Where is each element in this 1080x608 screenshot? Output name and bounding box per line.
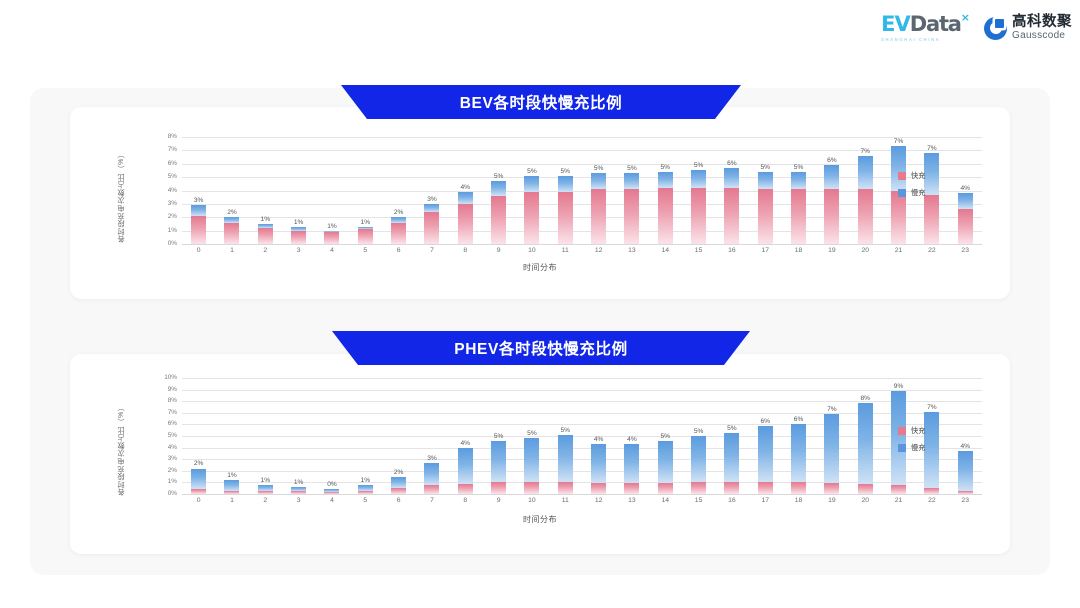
bar-segment-fast-charge[interactable] (558, 192, 573, 244)
bar-segment-fast-charge[interactable] (624, 483, 639, 494)
x-axis-tick-label: 2 (249, 247, 282, 254)
bar-value-label: 4% (960, 443, 970, 450)
x-axis-tick-label: 1 (215, 497, 248, 504)
bar-slot[interactable]: 5% (649, 378, 682, 494)
y-axis-tick-label: 8% (168, 134, 177, 140)
stacked-bar[interactable]: 5% (658, 172, 673, 244)
stacked-bar[interactable]: 3% (424, 463, 439, 494)
bar-slot[interactable]: 5% (582, 137, 615, 244)
bar-segment-slow-charge[interactable] (691, 170, 706, 187)
bar-segment-fast-charge[interactable] (958, 491, 973, 494)
bar-value-label: 1% (261, 477, 271, 484)
x-axis-tick-label: 23 (949, 247, 982, 254)
bar-value-label: 1% (327, 223, 337, 230)
stacked-bar[interactable]: 5% (558, 435, 573, 494)
bar-slot[interactable]: 3% (415, 137, 448, 244)
bar-slot[interactable]: 4% (615, 378, 648, 494)
bar-segment-fast-charge[interactable] (191, 216, 206, 244)
x-axis-title: 时间分布 (70, 262, 1010, 273)
legend-item[interactable]: 快充 (898, 426, 925, 436)
bar-slot[interactable]: 3% (415, 378, 448, 494)
bar-segment-slow-charge[interactable] (791, 424, 806, 482)
bar-segment-fast-charge[interactable] (691, 482, 706, 494)
bar-segment-slow-charge[interactable] (924, 412, 939, 489)
bar-segment-slow-charge[interactable] (824, 414, 839, 483)
bar-segment-fast-charge[interactable] (591, 189, 606, 244)
chart-phev: 各时段充电次数占比（%）10%9%8%7%6%5%4%3%2%1%0%2%1%1… (70, 354, 1010, 554)
x-axis-tick-label: 5 (349, 247, 382, 254)
bar-segment-fast-charge[interactable] (658, 188, 673, 244)
stacked-bar[interactable]: 0% (324, 489, 339, 494)
bar-slot[interactable]: 2% (215, 137, 248, 244)
stacked-bar[interactable]: 7% (924, 412, 939, 494)
bar-value-label: 5% (794, 164, 804, 171)
bar-slot[interactable]: 1% (282, 378, 315, 494)
stacked-bar[interactable]: 5% (558, 176, 573, 244)
bar-slot[interactable]: 1% (349, 378, 382, 494)
bar-value-label: 7% (860, 148, 870, 155)
bar-segment-slow-charge[interactable] (458, 192, 473, 204)
bar-segment-slow-charge[interactable] (491, 441, 506, 483)
stacked-bar[interactable]: 2% (391, 477, 406, 494)
stacked-bar[interactable]: 1% (258, 485, 273, 494)
bar-slot[interactable]: 1% (349, 137, 382, 244)
bar-value-label: 1% (294, 479, 304, 486)
bar-value-label: 7% (827, 406, 837, 413)
bar-slot[interactable]: 6% (782, 378, 815, 494)
bar-value-label: 1% (361, 219, 371, 226)
stacked-bar[interactable]: 1% (291, 227, 306, 244)
bar-value-label: 5% (760, 164, 770, 171)
stacked-bar[interactable]: 5% (658, 441, 673, 494)
stacked-bar[interactable]: 5% (791, 172, 806, 244)
y-axis-tick-label: 2% (168, 468, 177, 474)
evdata-logo: EV Data × SHANGHAI CHINA (881, 14, 970, 42)
bar-value-label: 1% (294, 219, 304, 226)
stacked-bar[interactable]: 5% (491, 181, 506, 244)
bar-value-label: 3% (427, 196, 437, 203)
bar-segment-fast-charge[interactable] (524, 192, 539, 244)
bar-segment-slow-charge[interactable] (524, 438, 539, 482)
y-axis-tick-label: 6% (168, 161, 177, 167)
bar-slot[interactable]: 1% (249, 137, 282, 244)
stacked-bar[interactable]: 1% (258, 224, 273, 244)
axis-baseline (182, 244, 982, 245)
stacked-bar[interactable]: 7% (824, 414, 839, 494)
bar-slot[interactable]: 6% (815, 137, 848, 244)
bar-segment-fast-charge[interactable] (291, 231, 306, 244)
x-axis-tick-label: 4 (315, 247, 348, 254)
bar-segment-slow-charge[interactable] (958, 451, 973, 491)
bar-value-label: 6% (760, 418, 770, 425)
bar-group: 3%2%1%1%1%1%2%3%4%5%5%5%5%5%5%5%6%5%5%6%… (182, 137, 982, 244)
evdata-logo-wordmark: EV Data × (881, 14, 970, 35)
bar-segment-fast-charge[interactable] (358, 229, 373, 244)
bar-value-label: 5% (561, 168, 571, 175)
stacked-bar[interactable]: 6% (758, 426, 773, 494)
x-axis-tick-label: 19 (815, 497, 848, 504)
bar-slot[interactable]: 8% (849, 378, 882, 494)
bar-segment-fast-charge[interactable] (758, 482, 773, 494)
bar-slot[interactable]: 7% (849, 137, 882, 244)
stacked-bar[interactable]: 5% (624, 173, 639, 244)
bar-segment-fast-charge[interactable] (524, 482, 539, 494)
bar-segment-fast-charge[interactable] (924, 195, 939, 244)
x-axis-tick-label: 9 (482, 497, 515, 504)
bar-segment-fast-charge[interactable] (191, 489, 206, 494)
bar-segment-fast-charge[interactable] (324, 232, 339, 244)
bar-segment-fast-charge[interactable] (458, 484, 473, 494)
stacked-bar[interactable]: 1% (358, 227, 373, 244)
x-axis-tick-label: 14 (649, 247, 682, 254)
bar-segment-slow-charge[interactable] (724, 168, 739, 188)
stacked-bar[interactable]: 1% (358, 485, 373, 494)
x-axis-tick-label: 9 (482, 247, 515, 254)
stacked-bar[interactable]: 6% (791, 424, 806, 494)
bar-value-label: 7% (927, 145, 937, 152)
bar-segment-slow-charge[interactable] (758, 426, 773, 483)
bar-segment-fast-charge[interactable] (891, 485, 906, 494)
x-axis-tick-label: 18 (782, 247, 815, 254)
bar-segment-slow-charge[interactable] (391, 477, 406, 488)
bar-slot[interactable]: 3% (182, 137, 215, 244)
bar-segment-slow-charge[interactable] (558, 435, 573, 481)
bar-slot[interactable]: 6% (715, 137, 748, 244)
stacked-bar[interactable]: 5% (758, 172, 773, 244)
bar-segment-fast-charge[interactable] (424, 485, 439, 494)
bar-segment-fast-charge[interactable] (224, 491, 239, 494)
stacked-bar[interactable]: 4% (958, 451, 973, 494)
bar-slot[interactable]: 5% (515, 137, 548, 244)
x-axis-tick-label: 8 (449, 497, 482, 504)
stacked-bar[interactable]: 5% (524, 438, 539, 494)
x-axis-tick-label: 13 (615, 497, 648, 504)
bar-segment-slow-charge[interactable] (858, 156, 873, 189)
x-axis-tick-label: 2 (249, 497, 282, 504)
bar-slot[interactable]: 1% (315, 137, 348, 244)
x-axis-tick-label: 5 (349, 497, 382, 504)
bar-segment-fast-charge[interactable] (491, 482, 506, 494)
bar-slot[interactable]: 4% (449, 378, 482, 494)
legend-item[interactable]: 慢充 (898, 443, 925, 453)
bar-group: 2%1%1%1%0%1%2%3%4%5%5%5%4%4%5%5%5%6%6%7%… (182, 378, 982, 494)
brand-logo-bar: EV Data × SHANGHAI CHINA 高科数聚 Gausscode (881, 14, 1072, 42)
stacked-bar[interactable]: 5% (691, 436, 706, 494)
evdata-tagline: SHANGHAI CHINA (881, 37, 940, 42)
bar-slot[interactable]: 1% (282, 137, 315, 244)
stacked-bar[interactable]: 4% (458, 192, 473, 244)
y-axis-tick-label: 5% (168, 174, 177, 180)
stacked-bar[interactable]: 5% (724, 433, 739, 494)
bar-slot[interactable]: 5% (549, 137, 582, 244)
x-axis-tick-label: 13 (615, 247, 648, 254)
bar-segment-fast-charge[interactable] (724, 482, 739, 494)
bar-segment-slow-charge[interactable] (191, 205, 206, 216)
bar-segment-fast-charge[interactable] (558, 482, 573, 494)
stacked-bar[interactable]: 4% (591, 444, 606, 494)
x-axis-tick-label: 1 (215, 247, 248, 254)
stacked-bar[interactable]: 6% (824, 165, 839, 244)
bar-segment-fast-charge[interactable] (958, 209, 973, 244)
legend-item[interactable]: 慢充 (898, 188, 925, 198)
x-axis-tick-label: 11 (549, 497, 582, 504)
stacked-bar[interactable]: 4% (958, 193, 973, 244)
bar-value-label: 4% (960, 185, 970, 192)
bar-segment-slow-charge[interactable] (658, 441, 673, 483)
gausscode-emblem-icon (984, 17, 1007, 40)
bar-segment-slow-charge[interactable] (591, 444, 606, 483)
bar-value-label: 4% (627, 436, 637, 443)
y-axis-ticks: 10%9%8%7%6%5%4%3%2%1%0% (155, 378, 177, 494)
bar-slot[interactable]: 7% (815, 378, 848, 494)
bar-slot[interactable]: 2% (182, 378, 215, 494)
axis-baseline (182, 494, 982, 495)
bar-slot[interactable]: 5% (649, 137, 682, 244)
bar-segment-fast-charge[interactable] (624, 189, 639, 244)
bar-segment-fast-charge[interactable] (824, 189, 839, 244)
legend-label: 快充 (911, 426, 925, 436)
y-axis-tick-label: 10% (164, 375, 177, 381)
bar-segment-fast-charge[interactable] (324, 492, 339, 494)
x-axis-tick-label: 4 (315, 497, 348, 504)
bar-slot[interactable]: 5% (549, 378, 582, 494)
x-axis-tick-label: 20 (849, 497, 882, 504)
stacked-bar[interactable]: 7% (924, 153, 939, 244)
bar-segment-slow-charge[interactable] (958, 193, 973, 209)
bar-segment-slow-charge[interactable] (858, 403, 873, 484)
y-axis-ticks: 8%7%6%5%4%3%2%1%0% (155, 137, 177, 244)
chart-title-banner-bev: BEV各时段快慢充比例 (341, 85, 741, 119)
bar-value-label: 7% (894, 138, 904, 145)
bar-segment-fast-charge[interactable] (658, 483, 673, 494)
y-axis-tick-label: 2% (168, 214, 177, 220)
bar-segment-slow-charge[interactable] (424, 204, 439, 212)
y-axis-tick-label: 1% (168, 227, 177, 233)
bar-value-label: 1% (261, 216, 271, 223)
bar-segment-slow-charge[interactable] (424, 463, 439, 486)
bar-segment-fast-charge[interactable] (891, 191, 906, 244)
bar-segment-slow-charge[interactable] (624, 444, 639, 483)
y-axis-tick-label: 1% (168, 479, 177, 485)
plot-area: 3%2%1%1%1%1%2%3%4%5%5%5%5%5%5%5%6%5%5%6%… (182, 137, 982, 244)
bar-slot[interactable]: 5% (515, 378, 548, 494)
stacked-bar[interactable]: 1% (291, 487, 306, 494)
bar-slot[interactable]: 2% (382, 378, 415, 494)
bar-slot[interactable]: 6% (749, 378, 782, 494)
x-axis-tick-label: 12 (582, 497, 615, 504)
bar-slot[interactable]: 5% (482, 137, 515, 244)
x-axis-title: 时间分布 (70, 514, 1010, 525)
bar-segment-slow-charge[interactable] (558, 176, 573, 192)
bar-segment-slow-charge[interactable] (458, 448, 473, 485)
bar-segment-slow-charge[interactable] (924, 153, 939, 194)
x-axis-tick-label: 21 (882, 247, 915, 254)
x-axis-tick-label: 7 (415, 497, 448, 504)
bar-segment-fast-charge[interactable] (391, 488, 406, 494)
bar-segment-fast-charge[interactable] (791, 482, 806, 494)
bar-slot[interactable]: 5% (682, 378, 715, 494)
bar-value-label: 4% (461, 440, 471, 447)
chart-card-phev: 各时段充电次数占比（%）10%9%8%7%6%5%4%3%2%1%0%2%1%1… (70, 354, 1010, 554)
x-axis-tick-label: 15 (682, 497, 715, 504)
bar-value-label: 5% (527, 430, 537, 437)
x-axis-tick-label: 20 (849, 247, 882, 254)
bar-segment-fast-charge[interactable] (391, 223, 406, 244)
x-axis-tick-label: 23 (949, 497, 982, 504)
bar-segment-slow-charge[interactable] (791, 172, 806, 189)
bar-segment-fast-charge[interactable] (858, 484, 873, 494)
x-axis-tick-label: 15 (682, 247, 715, 254)
x-axis-tick-label: 22 (915, 497, 948, 504)
y-axis-title: 各时段充电次数占比（%） (116, 374, 126, 496)
bar-value-label: 5% (527, 168, 537, 175)
y-axis-tick-label: 4% (168, 187, 177, 193)
stacked-bar[interactable]: 1% (224, 480, 239, 494)
bar-value-label: 6% (727, 160, 737, 167)
bar-segment-fast-charge[interactable] (458, 204, 473, 244)
x-axis-tick-label: 8 (449, 247, 482, 254)
evdata-ev-text: EV (881, 14, 910, 35)
y-axis-tick-label: 7% (168, 147, 177, 153)
bar-slot[interactable]: 1% (249, 378, 282, 494)
bar-slot[interactable]: 4% (582, 378, 615, 494)
bar-value-label: 7% (927, 404, 937, 411)
stacked-bar[interactable]: 5% (491, 441, 506, 494)
bar-value-label: 6% (794, 416, 804, 423)
bar-slot[interactable]: 1% (215, 378, 248, 494)
stacked-bar[interactable]: 5% (524, 176, 539, 244)
bar-segment-fast-charge[interactable] (491, 196, 506, 244)
bar-segment-slow-charge[interactable] (191, 469, 206, 489)
bar-value-label: 5% (694, 162, 704, 169)
bar-slot[interactable]: 4% (949, 378, 982, 494)
bar-segment-fast-charge[interactable] (691, 188, 706, 244)
bar-segment-fast-charge[interactable] (791, 189, 806, 244)
chart-title-banner-phev: PHEV各时段快慢充比例 (332, 331, 750, 365)
bar-value-label: 2% (394, 469, 404, 476)
y-axis-tick-label: 0% (168, 241, 177, 247)
x-axis-tick-label: 16 (715, 497, 748, 504)
bar-value-label: 5% (694, 428, 704, 435)
bar-value-label: 0% (327, 481, 337, 488)
bar-segment-fast-charge[interactable] (824, 483, 839, 494)
bar-slot[interactable]: 5% (482, 378, 515, 494)
gausscode-wordmark: 高科数聚 Gausscode (1012, 15, 1072, 42)
stacked-bar[interactable]: 4% (624, 444, 639, 494)
legend-item[interactable]: 快充 (898, 171, 925, 181)
bar-segment-slow-charge[interactable] (658, 172, 673, 188)
x-axis-tick-label: 11 (549, 247, 582, 254)
stacked-bar[interactable]: 6% (724, 168, 739, 244)
bar-value-label: 1% (361, 477, 371, 484)
y-axis-tick-label: 7% (168, 410, 177, 416)
bar-slot[interactable]: 0% (315, 378, 348, 494)
stacked-bar[interactable]: 7% (858, 156, 873, 244)
bar-segment-fast-charge[interactable] (224, 223, 239, 244)
legend-swatch-icon (898, 427, 906, 435)
chart-legend: 快充慢充 (898, 171, 925, 198)
bar-slot[interactable]: 5% (615, 137, 648, 244)
bar-segment-fast-charge[interactable] (358, 491, 373, 494)
bar-value-label: 5% (727, 425, 737, 432)
bar-value-label: 2% (227, 209, 237, 216)
bar-segment-slow-charge[interactable] (624, 173, 639, 189)
legend-swatch-icon (898, 189, 906, 197)
bar-segment-fast-charge[interactable] (591, 483, 606, 494)
bar-segment-fast-charge[interactable] (924, 488, 939, 494)
bar-slot[interactable]: 4% (449, 137, 482, 244)
x-axis-tick-label: 0 (182, 247, 215, 254)
bar-segment-slow-charge[interactable] (824, 165, 839, 189)
stacked-bar[interactable]: 2% (224, 217, 239, 244)
stacked-bar[interactable]: 2% (191, 468, 206, 494)
legend-swatch-icon (898, 172, 906, 180)
bar-slot[interactable]: 5% (715, 378, 748, 494)
bar-segment-fast-charge[interactable] (424, 212, 439, 244)
evdata-cross-icon: × (961, 12, 970, 23)
stacked-bar[interactable]: 4% (458, 448, 473, 494)
bar-value-label: 6% (827, 157, 837, 164)
bar-slot[interactable]: 5% (682, 137, 715, 244)
bar-value-label: 5% (494, 173, 504, 180)
bar-segment-slow-charge[interactable] (691, 436, 706, 482)
bar-segment-fast-charge[interactable] (258, 228, 273, 244)
bar-segment-fast-charge[interactable] (291, 491, 306, 494)
x-axis-tick-label: 6 (382, 247, 415, 254)
bar-segment-fast-charge[interactable] (758, 189, 773, 244)
x-axis-tick-label: 17 (749, 497, 782, 504)
bar-slot[interactable]: 2% (382, 137, 415, 244)
x-axis-ticks: 01234567891011121314151617181920212223 (182, 247, 982, 254)
bar-segment-slow-charge[interactable] (591, 173, 606, 189)
stacked-bar[interactable]: 5% (591, 173, 606, 244)
stacked-bar[interactable]: 3% (424, 204, 439, 244)
bar-slot[interactable]: 5% (749, 137, 782, 244)
bar-segment-slow-charge[interactable] (524, 176, 539, 192)
bar-value-label: 5% (660, 433, 670, 440)
bar-segment-fast-charge[interactable] (258, 491, 273, 494)
y-axis-tick-label: 3% (168, 456, 177, 462)
legend-label: 慢充 (911, 188, 925, 198)
bar-value-label: 3% (194, 197, 204, 204)
stacked-bar[interactable]: 1% (324, 231, 339, 244)
x-axis-tick-label: 14 (649, 497, 682, 504)
stacked-bar[interactable]: 8% (858, 403, 873, 494)
x-axis-tick-label: 22 (915, 247, 948, 254)
bar-slot[interactable]: 5% (782, 137, 815, 244)
y-axis-tick-label: 4% (168, 444, 177, 450)
bar-segment-fast-charge[interactable] (858, 189, 873, 244)
bar-segment-slow-charge[interactable] (491, 181, 506, 196)
x-axis-tick-label: 6 (382, 497, 415, 504)
y-axis-tick-label: 8% (168, 398, 177, 404)
stacked-bar[interactable]: 3% (191, 205, 206, 244)
stacked-bar[interactable]: 2% (391, 217, 406, 244)
bar-segment-slow-charge[interactable] (724, 433, 739, 482)
x-axis-tick-label: 10 (515, 247, 548, 254)
x-axis-ticks: 01234567891011121314151617181920212223 (182, 497, 982, 504)
x-axis-tick-label: 17 (749, 247, 782, 254)
y-axis-tick-label: 6% (168, 421, 177, 427)
x-axis-tick-label: 21 (882, 497, 915, 504)
stacked-bar[interactable]: 5% (691, 170, 706, 244)
bar-slot[interactable]: 4% (949, 137, 982, 244)
x-axis-tick-label: 0 (182, 497, 215, 504)
bar-segment-slow-charge[interactable] (758, 172, 773, 189)
bar-segment-slow-charge[interactable] (224, 480, 239, 490)
bar-segment-fast-charge[interactable] (724, 188, 739, 244)
bar-value-label: 9% (894, 383, 904, 390)
